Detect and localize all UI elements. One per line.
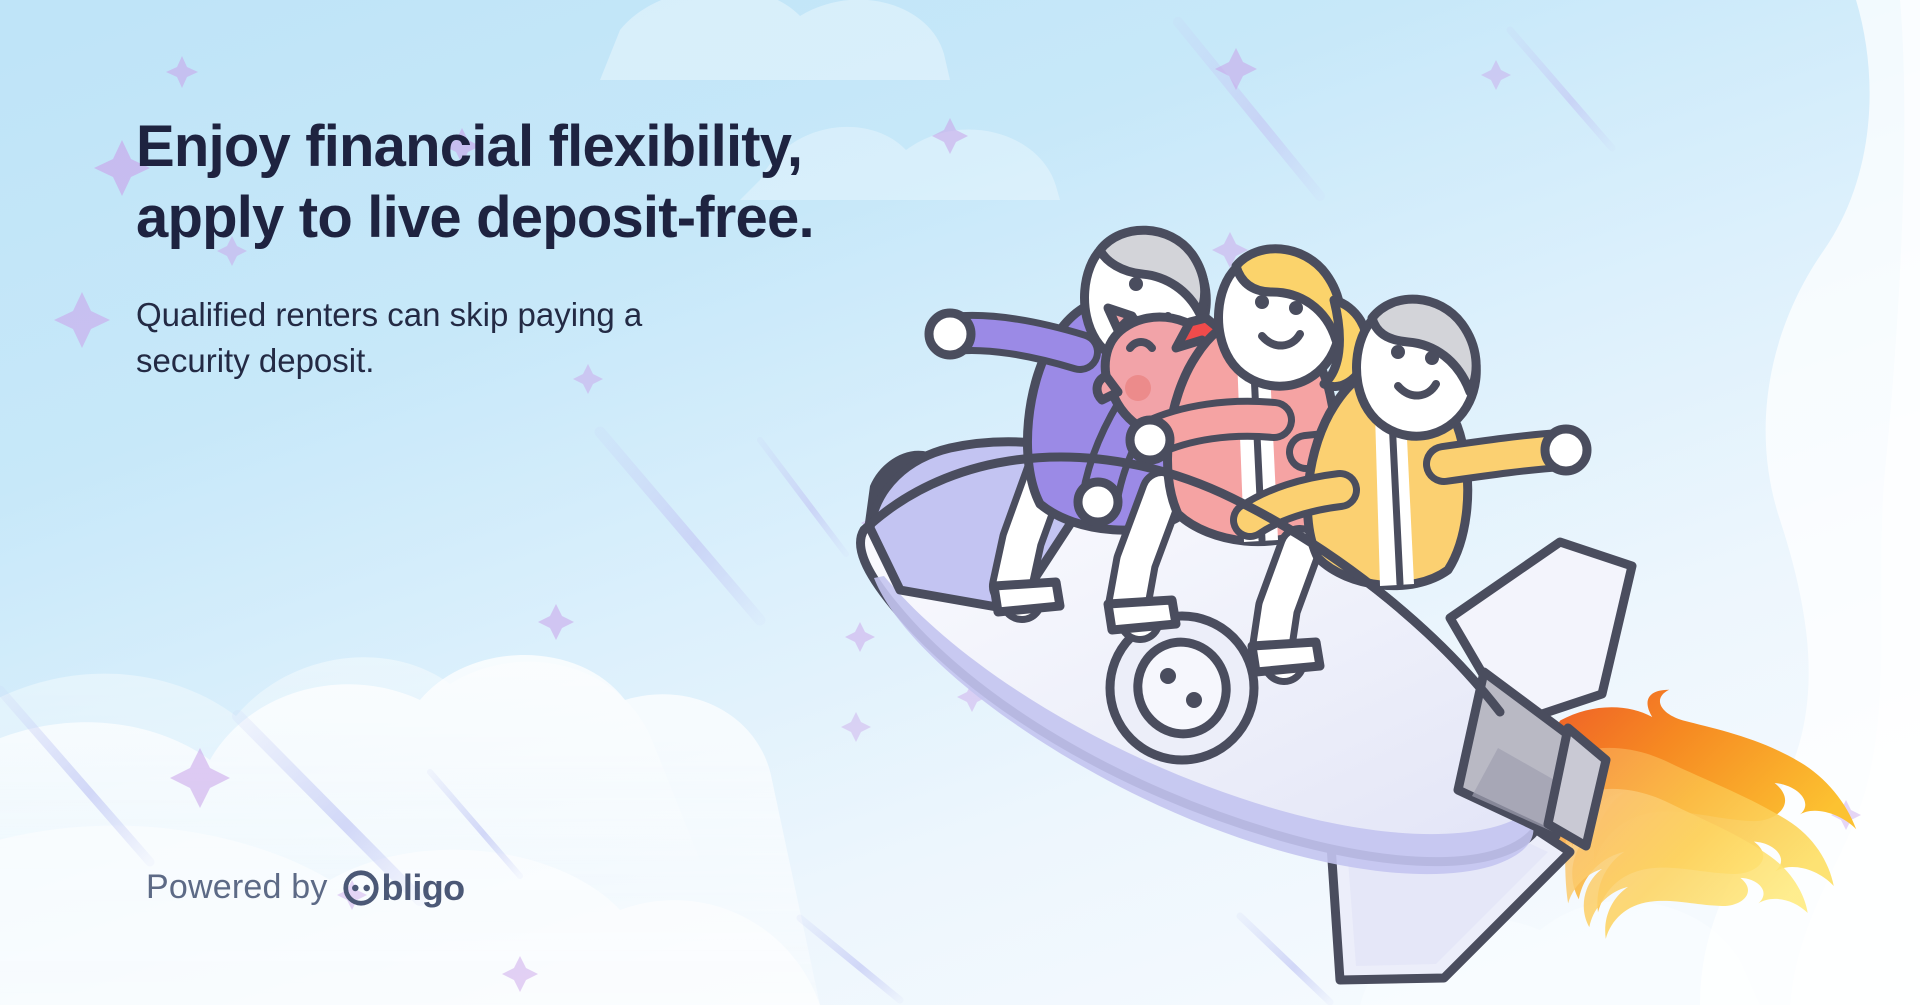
obligo-wordmark: bligo: [382, 870, 465, 906]
copy-block: Enjoy financial flexibility, apply to li…: [136, 112, 956, 385]
obligo-circle-two-dots-icon: [342, 869, 380, 907]
subtitle: Qualified renters can skip paying a secu…: [136, 292, 836, 386]
powered-by-block: Powered by bligo: [146, 868, 465, 907]
page-title: Enjoy financial flexibility, apply to li…: [136, 112, 956, 254]
cloud-group-headline-backdrop: [600, 0, 950, 80]
promo-banner: Enjoy financial flexibility, apply to li…: [0, 0, 1920, 1005]
obligo-logo: bligo: [342, 869, 465, 907]
powered-by-label: Powered by: [146, 868, 328, 907]
